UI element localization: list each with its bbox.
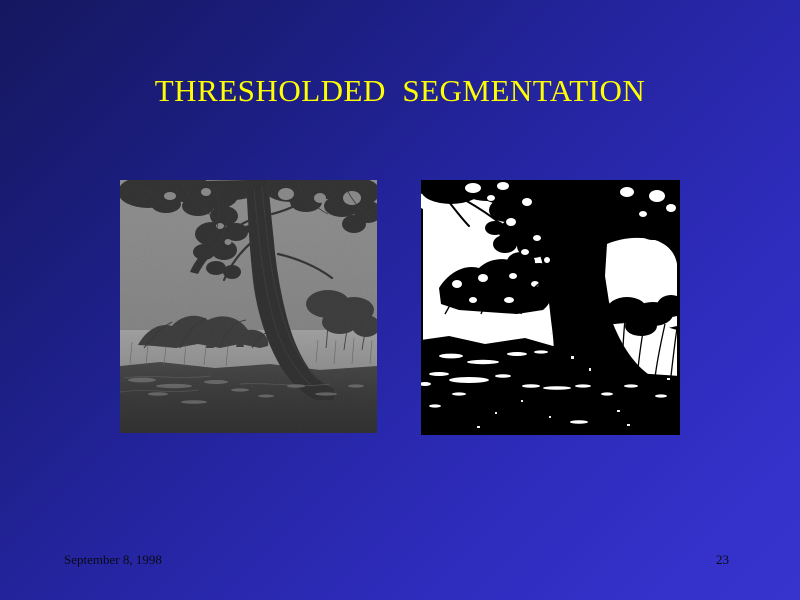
binary-threshold-tree-illustration <box>421 180 680 435</box>
grayscale-tree-illustration <box>120 180 377 433</box>
footer-page-number: 23 <box>716 552 729 568</box>
figure-original-grayscale-image <box>120 180 377 433</box>
presentation-slide: THRESHOLDED SEGMENTATION <box>0 0 800 600</box>
footer-date: September 8, 1998 <box>64 552 162 568</box>
figure-thresholded-binary-image <box>421 180 680 435</box>
page-title: THRESHOLDED SEGMENTATION <box>0 72 800 110</box>
